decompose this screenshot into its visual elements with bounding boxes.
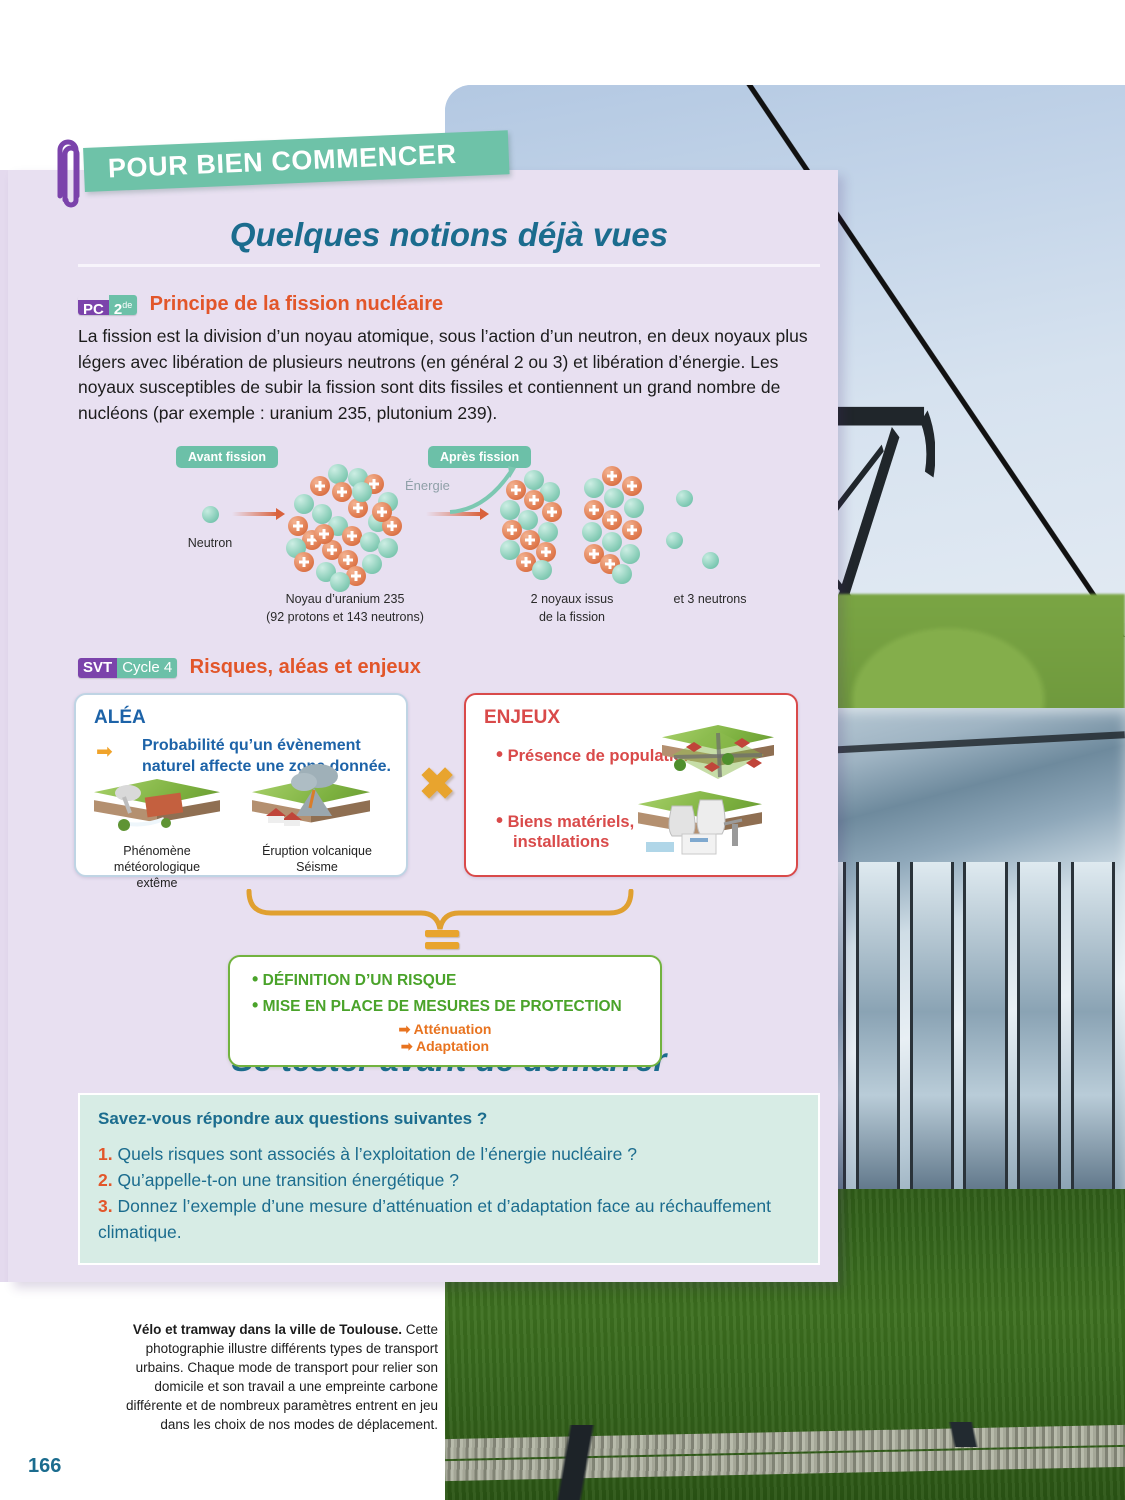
meteo-hazard-icon: [94, 779, 220, 845]
caption-rest: Cette photographie illustre différents t…: [126, 1322, 438, 1432]
title-rule: [78, 264, 820, 267]
self-test-intro: Savez-vous répondre aux questions suivan…: [98, 1109, 800, 1129]
badge-level-label: 2de: [109, 295, 137, 315]
enjeux-title: ENJEUX: [484, 707, 560, 729]
badge-pc-2de: PC2de: [78, 295, 137, 315]
free-neutron: [702, 552, 719, 569]
arrow-right-icon: ➡: [399, 1021, 411, 1037]
content-panel: Quelques notions déjà vues PC2de Princip…: [8, 170, 838, 1282]
badge-svt-cycle4: SVTCycle 4: [78, 658, 177, 678]
caption-lead: Vélo et tramway dans la ville de Toulous…: [133, 1322, 402, 1337]
fission-paragraph: La fission est la division d’un noyau at…: [78, 324, 820, 426]
self-test-question-3: 3. Donnez l’exemple d’une mesure d’attén…: [98, 1193, 800, 1245]
tag-avant-fission: Avant fission: [176, 446, 278, 468]
fission-product-2: [576, 466, 646, 582]
badge-subject-label: SVT: [78, 658, 117, 678]
fission-diagram: Avant fission Après fission Neutron Noya…: [60, 440, 838, 640]
free-neutron: [676, 490, 693, 507]
label-products-line2: de la fission: [482, 610, 662, 624]
badge-subject-label: PC: [78, 300, 109, 315]
label-uranium-line1: Noyau d’uranium 235: [250, 592, 440, 606]
page-number: 166: [28, 1455, 61, 1478]
tram-window: [1071, 862, 1115, 1195]
alea-example1-caption: Phénomène météorologique extême: [82, 843, 232, 891]
tram-window: [963, 862, 1007, 1195]
alea-title: ALÉA: [94, 707, 146, 729]
paperclip-icon: [56, 138, 86, 210]
result-item-2: • MISE EN PLACE DE MESURES DE PROTECTION: [252, 995, 660, 1016]
enjeux-box: ENJEUX • Présence de population • Biens …: [464, 693, 798, 877]
alea-example2-caption: Éruption volcanique Séisme: [242, 843, 392, 875]
result-sub-2: ➡ Adaptation: [230, 1038, 660, 1055]
self-test-question-2: 2. Qu’appelle-t-on une transition énergé…: [98, 1167, 800, 1193]
enjeux-item-2: • Biens matériels, installations: [496, 811, 634, 852]
arrow-right-icon: ➡: [96, 739, 113, 764]
tram-window: [1017, 862, 1061, 1195]
self-test-question-1: 1. Quels risques sont associés à l’explo…: [98, 1141, 800, 1167]
tram-rail: [445, 1425, 731, 1500]
tram-window: [910, 862, 954, 1195]
alea-box: ALÉA ➡ Probabilité qu’un évènement natur…: [74, 693, 408, 877]
uranium-nucleus: [282, 464, 402, 584]
risk-schema: ALÉA ➡ Probabilité qu’un évènement natur…: [60, 693, 838, 893]
badge-level-label: Cycle 4: [117, 658, 177, 678]
section-title-notions: Quelques notions déjà vues: [60, 216, 838, 254]
result-sub-1: ➡ Atténuation: [230, 1021, 660, 1038]
volcano-hazard-icon: [252, 779, 370, 845]
photo-caption: Vélo et tramway dans la ville de Toulous…: [108, 1320, 438, 1434]
power-plant-icon: [638, 791, 762, 857]
risk-result-box: • DÉFINITION D’UN RISQUE • MISE EN PLACE…: [228, 955, 662, 1067]
arrow-neutron-in: [232, 512, 278, 516]
incoming-neutron: [202, 506, 219, 523]
tram-rail: [826, 1422, 1098, 1447]
topic-heading-risques: Risques, aléas et enjeux: [190, 656, 421, 678]
arrow-right-icon: ➡: [401, 1038, 413, 1054]
label-uranium-line2: (92 protons et 143 neutrons): [240, 610, 450, 624]
equals-symbol: [425, 930, 459, 954]
tram-window: [856, 862, 900, 1195]
fission-product-1: [496, 470, 560, 580]
ribbon-label: POUR BIEN COMMENCER: [107, 139, 457, 185]
label-neutron: Neutron: [170, 536, 250, 550]
topic-heading-fission: Principe de la fission nucléaire: [150, 293, 443, 315]
label-energie: Énergie: [405, 478, 450, 493]
label-free-neutrons: et 3 neutrons: [630, 592, 790, 606]
multiply-operator-icon: ✖: [417, 765, 457, 805]
result-item-1: • DÉFINITION D’UN RISQUE: [252, 969, 660, 990]
brace-connector: [245, 889, 635, 931]
free-neutron: [666, 532, 683, 549]
self-test-box: Savez-vous répondre aux questions suivan…: [78, 1093, 820, 1265]
